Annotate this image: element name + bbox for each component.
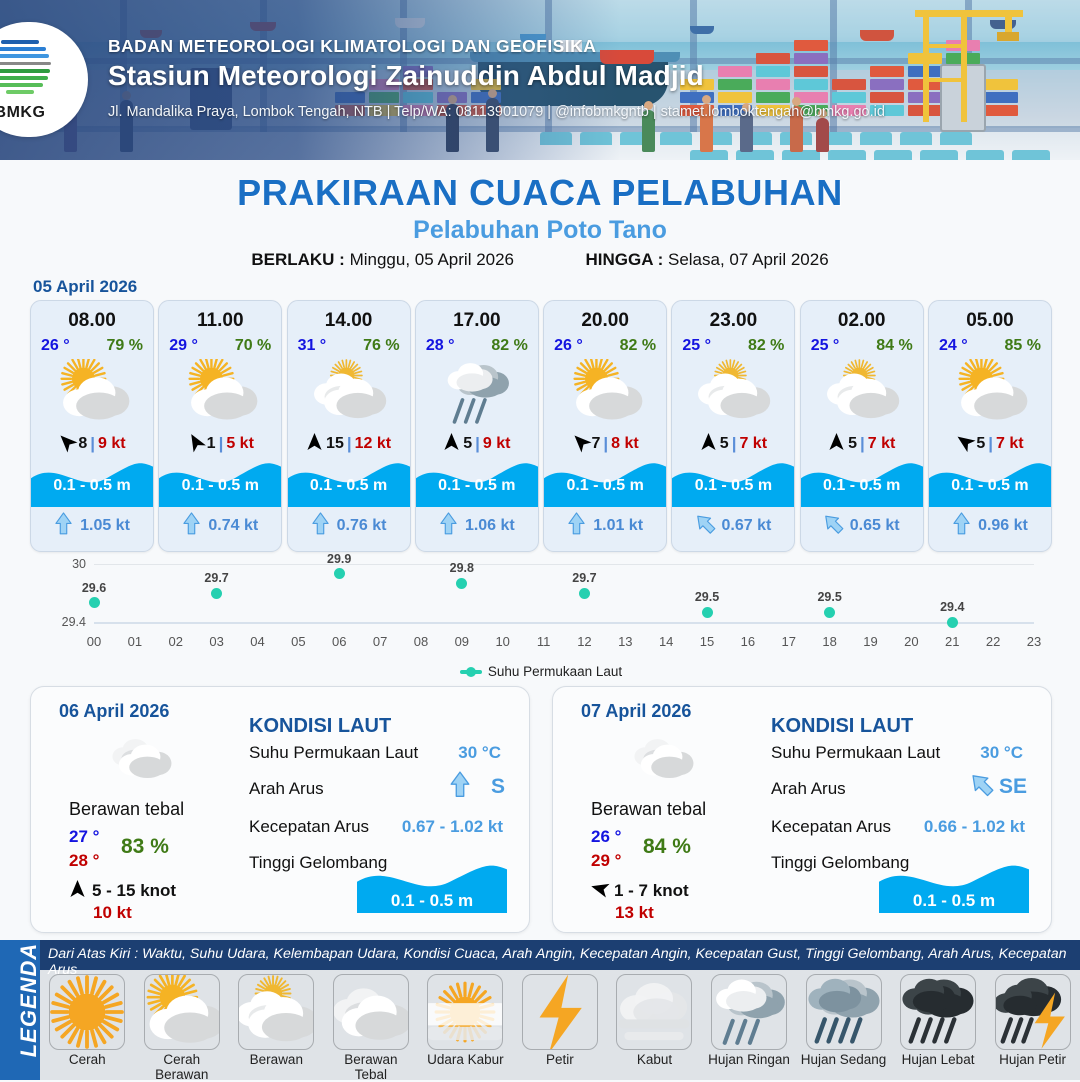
legend-item: Cerah Berawan: [138, 972, 226, 1080]
wind-speed: 15: [326, 435, 344, 453]
weather-cerah-berawan-icon: [31, 359, 153, 425]
chart-legend-label: Suhu Permukaan Laut: [488, 664, 622, 679]
daily-wind: 1 - 7 knot: [591, 879, 689, 903]
chart-xtick: 08: [408, 634, 434, 649]
sea-row-label: Suhu Permukaan Laut: [771, 743, 940, 763]
legend-item-label: Hujan Ringan: [705, 1052, 793, 1067]
card-temperature: 24 °: [939, 337, 968, 355]
chart-xtick: 06: [326, 634, 352, 649]
legend-item: Berawan: [232, 972, 320, 1080]
chart-data-point: [211, 588, 222, 599]
daily-humidity: 83 %: [121, 835, 169, 859]
daily-gust: 10 kt: [93, 903, 132, 923]
current-direction-arrow-icon: [567, 512, 586, 541]
current-speed: 1.05 kt: [80, 517, 130, 535]
wind-separator: |: [347, 434, 352, 454]
page-title: PRAKIRAAN CUACA PELABUHAN: [0, 172, 1080, 214]
chart-ytick: 30: [40, 557, 86, 571]
wind-direction-arrow-icon: [306, 432, 323, 456]
crane-icon: [905, 4, 1025, 124]
wind-separator: |: [219, 434, 224, 454]
current-speed: 1.01 kt: [593, 517, 643, 535]
card-temperature: 25 °: [682, 337, 711, 355]
legend-item-label: Petir: [516, 1052, 604, 1067]
sea-row-label: Arah Arus: [771, 779, 846, 799]
card-wind: 7 | 8 kt: [544, 431, 666, 457]
wave-height: 0.1 - 0.5 m: [879, 891, 1029, 911]
wind-speed: 1: [207, 435, 216, 453]
card-wind: 15 | 12 kt: [288, 431, 410, 457]
wind-speed: 5: [848, 435, 857, 453]
legend-item: Udara Kabur: [421, 972, 509, 1080]
chart-legend: Suhu Permukaan Laut: [30, 664, 1052, 679]
current-direction-arrow-icon: [952, 512, 971, 541]
chart-xtick: 19: [858, 634, 884, 649]
wind-separator: |: [860, 434, 865, 454]
daily-forecast-row: 06 April 2026 Berawan tebal 27 ° 28 ° 83…: [30, 686, 1052, 931]
legend-icon-cerah: [49, 974, 125, 1050]
card-time: 02.00: [801, 310, 923, 332]
legend-item: Berawan Tebal: [327, 972, 415, 1080]
weather-hujan-ringan-icon: [416, 359, 538, 425]
hourly-card: 23.00 25 ° 82 % 5 | 7 kt 0.1 - 0.5 m: [671, 300, 795, 552]
card-time: 20.00: [544, 310, 666, 332]
current-direction-arrow-icon: [182, 512, 201, 541]
card-humidity: 79 %: [107, 337, 143, 355]
card-temperature: 28 °: [426, 337, 455, 355]
card-current: 0.65 kt: [801, 511, 923, 541]
hourly-date-label: 05 April 2026: [33, 277, 137, 297]
legend-note-bar: Dari Atas Kiri : Waktu, Suhu Udara, Kele…: [40, 940, 1080, 970]
chart-xtick: 14: [653, 634, 679, 649]
card-humidity: 82 %: [491, 337, 527, 355]
card-wind: 1 | 5 kt: [159, 431, 281, 457]
wave-height: 0.1 - 0.5 m: [672, 477, 794, 495]
card-wind: 5 | 7 kt: [672, 431, 794, 457]
chart-point-label: 29.9: [319, 552, 359, 566]
wind-speed: 8: [78, 435, 87, 453]
wave-height: 0.1 - 0.5 m: [357, 891, 507, 911]
card-current: 0.96 kt: [929, 511, 1051, 541]
validity-line: BERLAKU : Minggu, 05 April 2026 HINGGA :…: [0, 250, 1080, 270]
sst-chart: 3029.40001020304050607080910111213141516…: [30, 556, 1052, 686]
daily-condition: Berawan tebal: [591, 799, 706, 820]
chart-xtick: 05: [285, 634, 311, 649]
chart-xtick: 17: [776, 634, 802, 649]
card-humidity: 85 %: [1005, 337, 1041, 355]
daily-gust: 13 kt: [615, 903, 654, 923]
wind-direction-arrow-icon: [956, 432, 973, 456]
daily-date: 07 April 2026: [581, 701, 691, 722]
legend-item-label: Hujan Lebat: [894, 1052, 982, 1067]
weather-berawan-icon: [288, 359, 410, 425]
daily-wind: 5 - 15 knot: [69, 879, 176, 903]
wind-speed: 5: [463, 435, 472, 453]
legend-item: Hujan Ringan: [705, 972, 793, 1080]
weather-cerah-berawan-icon: [544, 359, 666, 425]
page-header: BMKG BADAN METEOROLOGI KLIMATOLOGI DAN G…: [0, 0, 1080, 160]
legend-icon-hujan-sedang: [806, 974, 882, 1050]
wind-direction-arrow-icon: [58, 432, 75, 456]
bmkg-logo-circle: [0, 34, 53, 100]
legend-icon-berawan: [238, 974, 314, 1050]
legend-item-label: Cerah: [43, 1052, 131, 1067]
hourly-card: 02.00 25 ° 84 % 5 | 7 kt 0.1 - 0.5 m: [800, 300, 924, 552]
sea-temperature-value: 30 °C: [458, 743, 501, 763]
wind-speed: 5: [720, 435, 729, 453]
wave-height: 0.1 - 0.5 m: [801, 477, 923, 495]
daily-forecast-panel: 06 April 2026 Berawan tebal 27 ° 28 ° 83…: [30, 686, 530, 933]
chart-xtick: 21: [939, 634, 965, 649]
chart-point-label: 29.5: [687, 590, 727, 604]
wave-height: 0.1 - 0.5 m: [288, 477, 410, 495]
chart-xtick: 10: [490, 634, 516, 649]
wind-separator: |: [732, 434, 737, 454]
chart-data-point: [89, 597, 100, 608]
chart-data-point: [824, 607, 835, 618]
daily-wind-range: 1 - 7 knot: [614, 881, 689, 901]
valid-label: BERLAKU :: [251, 250, 345, 269]
hourly-card: 14.00 31 ° 76 % 15 | 12 kt 0.1 - 0.5 m: [287, 300, 411, 552]
legend-item: Petir: [516, 972, 604, 1080]
legend-section: LEGENDA Dari Atas Kiri : Waktu, Suhu Uda…: [0, 940, 1080, 1080]
gust-speed: 7 kt: [996, 435, 1024, 453]
wind-separator: |: [988, 434, 993, 454]
daily-humidity: 84 %: [643, 835, 691, 859]
daily-wind-range: 5 - 15 knot: [92, 881, 176, 901]
chart-xtick: 03: [204, 634, 230, 649]
legend-icon-hujan-ringan: [711, 974, 787, 1050]
sea-conditions-title: KONDISI LAUT: [771, 715, 913, 738]
sea-temperature-value: 30 °C: [980, 743, 1023, 763]
current-speed-value: 0.66 - 1.02 kt: [924, 817, 1025, 837]
chart-point-label: 29.8: [442, 561, 482, 575]
current-direction-arrow-icon: [449, 771, 471, 804]
station-name: Stasiun Meteorologi Zainuddin Abdul Madj…: [108, 60, 704, 92]
card-wind: 5 | 9 kt: [416, 431, 538, 457]
chart-xtick: 07: [367, 634, 393, 649]
gust-speed: 7 kt: [868, 435, 896, 453]
current-direction-arrow-icon: [54, 512, 73, 541]
chart-xtick: 23: [1021, 634, 1047, 649]
daily-temp-max: 29 °: [591, 851, 621, 871]
current-direction-arrow-icon: [696, 512, 715, 541]
chart-data-point: [702, 607, 713, 618]
wind-direction-arrow-icon: [69, 879, 86, 903]
card-current: 0.76 kt: [288, 511, 410, 541]
legend-items: Cerah Cerah Berawan Berawan: [40, 972, 1080, 1080]
card-temperature: 26 °: [41, 337, 70, 355]
current-speed: 0.67 kt: [722, 517, 772, 535]
chart-xtick: 09: [449, 634, 475, 649]
weather-cerah-berawan-icon: [159, 359, 281, 425]
card-current: 1.01 kt: [544, 511, 666, 541]
card-current: 0.67 kt: [672, 511, 794, 541]
weather-berawan-tebal-icon: [91, 729, 191, 785]
chart-xtick: 04: [244, 634, 270, 649]
card-time: 17.00: [416, 310, 538, 332]
gust-speed: 5 kt: [226, 435, 254, 453]
legend-icon-cerah-berawan: [144, 974, 220, 1050]
card-humidity: 84 %: [876, 337, 912, 355]
until-value: Selasa, 07 April 2026: [668, 250, 829, 269]
card-wind: 8 | 9 kt: [31, 431, 153, 457]
legend-icon-kabut: [616, 974, 692, 1050]
gust-speed: 12 kt: [355, 435, 391, 453]
contact-info: Jl. Mandalika Praya, Lombok Tengah, NTB …: [108, 104, 885, 120]
weather-berawan-icon: [672, 359, 794, 425]
chart-xtick: 16: [735, 634, 761, 649]
wind-direction-arrow-icon: [700, 432, 717, 456]
wind-direction-arrow-icon: [187, 432, 204, 456]
legend-item-label: Hujan Petir: [989, 1052, 1077, 1067]
chart-data-point: [334, 568, 345, 579]
legend-item: Cerah: [43, 972, 131, 1080]
chart-xtick: 12: [571, 634, 597, 649]
chart-point-label: 29.7: [197, 571, 237, 585]
current-direction-arrow-icon: [971, 771, 993, 804]
org-name: BADAN METEOROLOGI KLIMATOLOGI DAN GEOFIS…: [108, 36, 596, 57]
chart-legend-marker: [460, 670, 482, 674]
legend-item-label: Kabut: [610, 1052, 698, 1067]
current-direction-arrow-icon: [311, 512, 330, 541]
card-temperature: 31 °: [298, 337, 327, 355]
chart-xtick: 11: [531, 634, 557, 649]
current-speed: 0.76 kt: [337, 517, 387, 535]
gust-speed: 9 kt: [98, 435, 126, 453]
chart-xtick: 01: [122, 634, 148, 649]
legend-item: Hujan Petir: [989, 972, 1077, 1080]
card-time: 11.00: [159, 310, 281, 332]
wind-direction-arrow-icon: [828, 432, 845, 456]
chart-point-label: 29.5: [810, 590, 850, 604]
hourly-forecast-row: 08.00 26 ° 79 % 8 | 9 kt 0.1 - 0.5 m 1.0…: [30, 300, 1052, 550]
wind-speed: 5: [976, 435, 985, 453]
daily-temp-max: 28 °: [69, 851, 99, 871]
sea-row-label: Suhu Permukaan Laut: [249, 743, 418, 763]
until-label: HINGGA :: [585, 250, 663, 269]
card-current: 1.06 kt: [416, 511, 538, 541]
current-speed: 1.06 kt: [465, 517, 515, 535]
wave-height: 0.1 - 0.5 m: [929, 477, 1051, 495]
chart-data-point: [456, 578, 467, 589]
card-time: 14.00: [288, 310, 410, 332]
card-temperature: 25 °: [811, 337, 840, 355]
wave-height: 0.1 - 0.5 m: [544, 477, 666, 495]
daily-condition: Berawan tebal: [69, 799, 184, 820]
legend-item-label: Hujan Sedang: [800, 1052, 888, 1067]
hourly-card: 11.00 29 ° 70 % 1 | 5 kt 0.1 - 0.5 m 0.7…: [158, 300, 282, 552]
card-time: 08.00: [31, 310, 153, 332]
legend-sidebar: LEGENDA: [0, 940, 40, 1080]
wave-height: 0.1 - 0.5 m: [416, 477, 538, 495]
card-time: 23.00: [672, 310, 794, 332]
legend-item-label: Udara Kabur: [421, 1052, 509, 1067]
daily-date: 06 April 2026: [59, 701, 169, 722]
legend-item: Kabut: [610, 972, 698, 1080]
legend-item: Hujan Lebat: [894, 972, 982, 1080]
current-speed-value: 0.67 - 1.02 kt: [402, 817, 503, 837]
card-humidity: 70 %: [235, 337, 271, 355]
card-wind: 5 | 7 kt: [801, 431, 923, 457]
hourly-card: 08.00 26 ° 79 % 8 | 9 kt 0.1 - 0.5 m 1.0…: [30, 300, 154, 552]
hourly-card: 17.00 28 ° 82 % 5 | 9 kt 0.1 - 0.5 m: [415, 300, 539, 552]
wind-separator: |: [603, 434, 608, 454]
chart-xtick: 20: [898, 634, 924, 649]
legend-item-label: Cerah Berawan: [138, 1052, 226, 1082]
wind-direction-arrow-icon: [591, 879, 608, 903]
current-direction-arrow-icon: [824, 512, 843, 541]
card-humidity: 82 %: [748, 337, 784, 355]
chart-point-label: 29.4: [932, 600, 972, 614]
weather-cerah-berawan-icon: [929, 359, 1051, 425]
sea-row-label: Arah Arus: [249, 779, 324, 799]
wind-separator: |: [475, 434, 480, 454]
legend-item-label: Berawan: [232, 1052, 320, 1067]
chart-point-label: 29.7: [564, 571, 604, 585]
chart-plot-area: 3029.40001020304050607080910111213141516…: [94, 564, 1034, 622]
wind-separator: |: [90, 434, 95, 454]
current-direction-value: SE: [999, 775, 1027, 799]
card-humidity: 76 %: [363, 337, 399, 355]
chart-xtick: 15: [694, 634, 720, 649]
chart-xtick: 02: [163, 634, 189, 649]
legend-icon-berawan-tebal: [333, 974, 409, 1050]
wind-speed: 7: [592, 435, 601, 453]
card-temperature: 26 °: [554, 337, 583, 355]
card-temperature: 29 °: [169, 337, 198, 355]
legend-icon-hujan-petir: [995, 974, 1071, 1050]
chart-data-point: [947, 617, 958, 628]
card-current: 0.74 kt: [159, 511, 281, 541]
chart-xtick: 00: [81, 634, 107, 649]
chart-xtick: 22: [980, 634, 1006, 649]
current-speed: 0.96 kt: [978, 517, 1028, 535]
legend-icon-udara-kabur: [427, 974, 503, 1050]
gust-speed: 7 kt: [739, 435, 767, 453]
chart-ytick: 29.4: [40, 615, 86, 629]
chart-xtick: 18: [817, 634, 843, 649]
legend-icon-petir: [522, 974, 598, 1050]
chart-point-label: 29.6: [74, 581, 114, 595]
current-direction-value: S: [491, 775, 505, 799]
legend-sidebar-label: LEGENDA: [16, 930, 42, 1070]
card-time: 05.00: [929, 310, 1051, 332]
card-humidity: 82 %: [620, 337, 656, 355]
daily-temp-min: 26 °: [591, 827, 621, 847]
wind-direction-arrow-icon: [572, 432, 589, 456]
card-current: 1.05 kt: [31, 511, 153, 541]
legend-item: Hujan Sedang: [800, 972, 888, 1080]
wave-height: 0.1 - 0.5 m: [159, 477, 281, 495]
current-speed: 0.74 kt: [208, 517, 258, 535]
daily-forecast-panel: 07 April 2026 Berawan tebal 26 ° 29 ° 84…: [552, 686, 1052, 933]
wave-height: 0.1 - 0.5 m: [31, 477, 153, 495]
hourly-card: 05.00 24 ° 85 % 5 | 7 kt 0.1 - 0.5 m 0.9…: [928, 300, 1052, 552]
gust-speed: 9 kt: [483, 435, 511, 453]
wind-direction-arrow-icon: [443, 432, 460, 456]
valid-value: Minggu, 05 April 2026: [350, 250, 514, 269]
sea-row-label: Kecepatan Arus: [771, 817, 891, 837]
sea-row-label: Kecepatan Arus: [249, 817, 369, 837]
current-direction-arrow-icon: [439, 512, 458, 541]
weather-berawan-icon: [801, 359, 923, 425]
chart-xtick: 13: [612, 634, 638, 649]
legend-item-label: Berawan Tebal: [327, 1052, 415, 1082]
card-wind: 5 | 7 kt: [929, 431, 1051, 457]
legend-icon-hujan-lebat: [900, 974, 976, 1050]
sea-conditions-title: KONDISI LAUT: [249, 715, 391, 738]
daily-temp-min: 27 °: [69, 827, 99, 847]
page-subtitle: Pelabuhan Poto Tano: [0, 216, 1080, 245]
gust-speed: 8 kt: [611, 435, 639, 453]
chart-data-point: [579, 588, 590, 599]
current-speed: 0.65 kt: [850, 517, 900, 535]
bmkg-logo-text: BMKG: [0, 104, 62, 122]
weather-berawan-tebal-icon: [613, 729, 713, 785]
hourly-card: 20.00 26 ° 82 % 7 | 8 kt 0.1 - 0.5 m 1.0…: [543, 300, 667, 552]
